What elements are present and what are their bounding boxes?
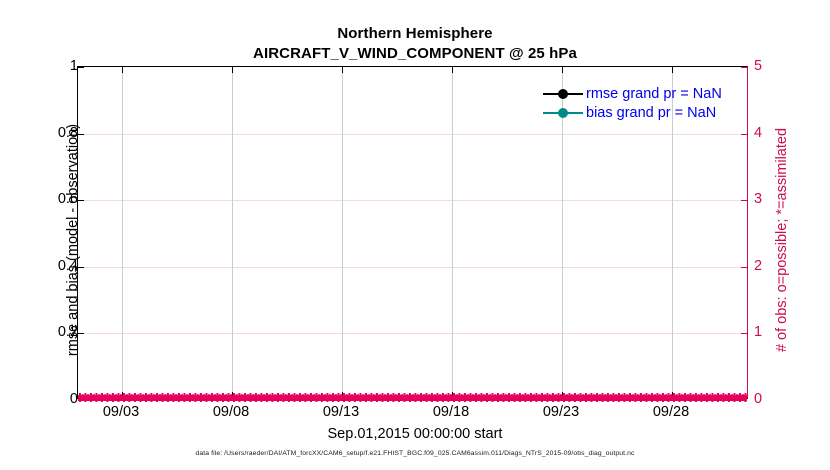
- data-file-caption: data file: /Users/raeder/DAI/ATM_forcXX/…: [0, 450, 830, 457]
- gridline-vertical: [452, 67, 453, 398]
- y-axis-right-tick-label: 5: [754, 58, 762, 74]
- legend-label-bias: bias grand pr = NaN: [586, 105, 716, 121]
- tick-mark-top: [232, 67, 233, 73]
- observation-zero-line: [78, 396, 747, 401]
- gridline-horizontal: [78, 134, 747, 135]
- y-axis-right-tick-label: 1: [754, 324, 762, 340]
- x-axis-tick-label: 09/23: [543, 404, 579, 420]
- gridline-horizontal: [78, 267, 747, 268]
- tick-mark-top: [342, 67, 343, 73]
- tick-mark-top: [562, 67, 563, 73]
- gridline-horizontal: [78, 200, 747, 201]
- gridline-horizontal: [78, 333, 747, 334]
- y-axis-right-tick-label: 2: [754, 258, 762, 274]
- tick-mark-right: [741, 267, 747, 268]
- y-axis-right-label: # of obs: o=possible; *=assimilated: [774, 70, 790, 410]
- x-axis-label: Sep.01,2015 00:00:00 start: [0, 426, 830, 442]
- chart-title-line-1: Northern Hemisphere: [0, 24, 830, 44]
- tick-mark-right: [741, 67, 747, 68]
- chart-title: Northern Hemisphere AIRCRAFT_V_WIND_COMP…: [0, 24, 830, 64]
- tick-mark-top: [122, 67, 123, 73]
- tick-mark-right: [741, 200, 747, 201]
- bias-series-marker-icon: [543, 107, 583, 119]
- tick-mark-top: [672, 67, 673, 73]
- y-axis-right-tick-label: 3: [754, 191, 762, 207]
- y-axis-right-tick-label: 4: [754, 125, 762, 141]
- x-axis-tick-label: 09/18: [433, 404, 469, 420]
- rmse-series-marker-icon: [543, 88, 583, 100]
- y-axis-left-label: rmse and bias (model - observation): [65, 70, 81, 410]
- legend-label-rmse: rmse grand pr = NaN: [586, 86, 722, 102]
- tick-mark-top: [452, 67, 453, 73]
- x-axis-tick-label: 09/28: [653, 404, 689, 420]
- gridline-vertical: [342, 67, 343, 398]
- x-axis-tick-label: 09/03: [103, 404, 139, 420]
- tick-mark-right: [741, 333, 747, 334]
- chart-title-line-2: AIRCRAFT_V_WIND_COMPONENT @ 25 hPa: [0, 44, 830, 64]
- tick-mark-right: [741, 134, 747, 135]
- y-axis-right-tick-label: 0: [754, 391, 762, 407]
- legend-item-bias: bias grand pr = NaN: [543, 103, 743, 122]
- chart-legend: rmse grand pr = NaN bias grand pr = NaN: [543, 84, 743, 122]
- x-axis-tick-label: 09/13: [323, 404, 359, 420]
- gridline-vertical: [122, 67, 123, 398]
- tick-mark-left: [78, 67, 84, 68]
- x-axis-tick-label: 09/08: [213, 404, 249, 420]
- legend-item-rmse: rmse grand pr = NaN: [543, 84, 743, 103]
- gridline-vertical: [232, 67, 233, 398]
